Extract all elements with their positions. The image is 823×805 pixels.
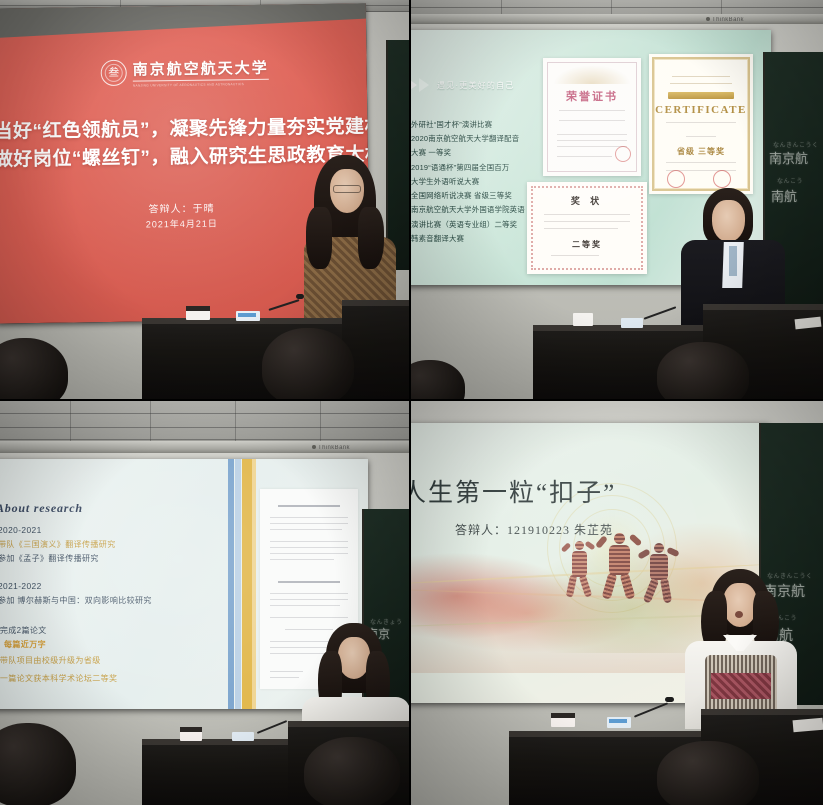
glasses-icon xyxy=(333,185,361,193)
slide-heading: About research xyxy=(0,501,83,516)
award-item-text: 大赛 一等奖 xyxy=(411,148,451,157)
audience-head xyxy=(304,737,400,805)
university-logo: 叁 南京航空航天大学 NANJING UNIVERSITY OF AERONAU… xyxy=(101,57,269,88)
panel-top-right: ThinkBank 遇见·更美好的自己 外研社“国才杯”演讲比赛 2020南京航… xyxy=(411,0,823,399)
award-item: 外研社“国才杯”演讲比赛 xyxy=(411,118,525,132)
university-name-en: NANJING UNIVERSITY OF AERONAUTICS AND AS… xyxy=(133,81,269,87)
award-item: 大赛 一等奖 xyxy=(411,146,525,160)
desk-box-blue xyxy=(232,732,254,741)
podium-upper xyxy=(342,300,409,399)
silhouette-jumper xyxy=(567,541,593,599)
photo-collage: 叁 南京航空航天大学 NANJING UNIVERSITY OF AERONAU… xyxy=(0,0,823,805)
desk-box-white xyxy=(573,313,593,326)
bullet-text: 完成2篇论文 xyxy=(0,626,47,635)
paper-sheet xyxy=(793,718,823,733)
award-item: 南京航空航天大学外国语学院英语 xyxy=(411,203,525,217)
audience-head xyxy=(657,342,749,399)
necktie xyxy=(729,246,737,276)
bullet-text: 带队项目由校级升级为省级 xyxy=(0,656,101,665)
award-item: 演讲比赛（英语专业组）二等奖 xyxy=(411,218,525,232)
arrow-right-icon xyxy=(419,78,429,92)
award-item: 2020南京航空航天大学翻译配音 xyxy=(411,132,525,146)
research-year: 2021-2022 xyxy=(0,581,42,591)
certificate-award-cert: 奖 状 二等奖 xyxy=(527,182,647,274)
desk-box-blue xyxy=(621,318,643,328)
research-line: 参加《孟子》翻译传播研究 xyxy=(0,553,99,564)
brand-text: ThinkBank xyxy=(712,17,744,23)
projector-brand-label: ThinkBank xyxy=(312,445,350,451)
audience-head xyxy=(657,741,759,805)
panel-bottom-right: 人生第一粒“扣子” 答辩人：121910223 朱芷苑 なんきんこうく 南京航 … xyxy=(411,401,823,805)
research-bullet: • 一篇论文获本科学术论坛二等奖 xyxy=(0,673,117,684)
research-year: 2020-2021 xyxy=(0,525,42,535)
desk-box-blue xyxy=(607,717,631,728)
bullet-text: 一篇论文获本科学术论坛二等奖 xyxy=(0,674,117,683)
desk-box-white xyxy=(551,713,575,727)
awards-list: 外研社“国才杯”演讲比赛 2020南京航空航天大学翻译配音 大赛 一等奖 201… xyxy=(411,118,525,246)
desk-box-white xyxy=(186,306,210,320)
research-line: 带队《三国演义》翻译传播研究 xyxy=(0,539,116,550)
research-bullet: • 带队项目由校级升级为省级 xyxy=(0,655,101,666)
certificate-title: CERTIFICATE xyxy=(649,104,753,116)
research-bullet: 每篇近万字 xyxy=(4,639,46,650)
certificate-honor: 荣誉证书 xyxy=(543,58,641,176)
slide-band: 遇见·更美好的自己 xyxy=(411,78,514,92)
award-item: 2019“语通杯”第四届全国百万 xyxy=(411,161,525,175)
award-item: 大学生外语听说大赛 xyxy=(411,175,525,189)
slide-title: 人生第一粒“扣子” xyxy=(411,473,616,509)
desk-box-blue xyxy=(236,311,260,321)
certificate-english: CERTIFICATE 省级 三等奖 xyxy=(649,54,753,194)
university-name: 南京航空航天大学 xyxy=(133,57,269,82)
projector-brand-label: ThinkBank xyxy=(706,17,744,23)
certificate-title: 奖 状 xyxy=(527,194,647,207)
silhouette-jumper xyxy=(603,533,637,599)
band-label: 遇见·更美好的自己 xyxy=(437,80,514,91)
research-bullet: • 完成2篇论文 xyxy=(0,625,47,636)
presenter-person xyxy=(683,569,799,729)
university-seal-icon: 叁 xyxy=(101,60,127,86)
panel-top-left: 叁 南京航空航天大学 NANJING UNIVERSITY OF AERONAU… xyxy=(0,0,409,399)
panel-bottom-left: ThinkBank About research 2020-2021 带队《三国… xyxy=(0,401,409,805)
certificate-award: 省级 三等奖 xyxy=(649,146,753,157)
slide-top-band xyxy=(0,3,370,38)
mouth xyxy=(735,611,743,618)
award-item: 全国网络听说决赛 省级三等奖 xyxy=(411,189,525,203)
certificate-award: 二等奖 xyxy=(527,239,647,250)
award-item: 韩素音翻译大赛 xyxy=(411,232,525,246)
research-line: 参加 博尔赫斯与中国：双向影响比较研究 xyxy=(0,595,152,606)
microphone-head-icon xyxy=(296,294,304,299)
desk-box-white xyxy=(180,727,202,741)
slide-presenter: 答辩人：121910223 朱芷苑 xyxy=(455,521,613,538)
microphone-head-icon xyxy=(665,697,674,702)
brand-text: ThinkBank xyxy=(318,445,350,451)
silhouette-jumper xyxy=(645,543,675,605)
audience-head xyxy=(262,328,354,399)
arrow-right-icon xyxy=(411,78,417,92)
certificate-title: 荣誉证书 xyxy=(543,88,641,104)
